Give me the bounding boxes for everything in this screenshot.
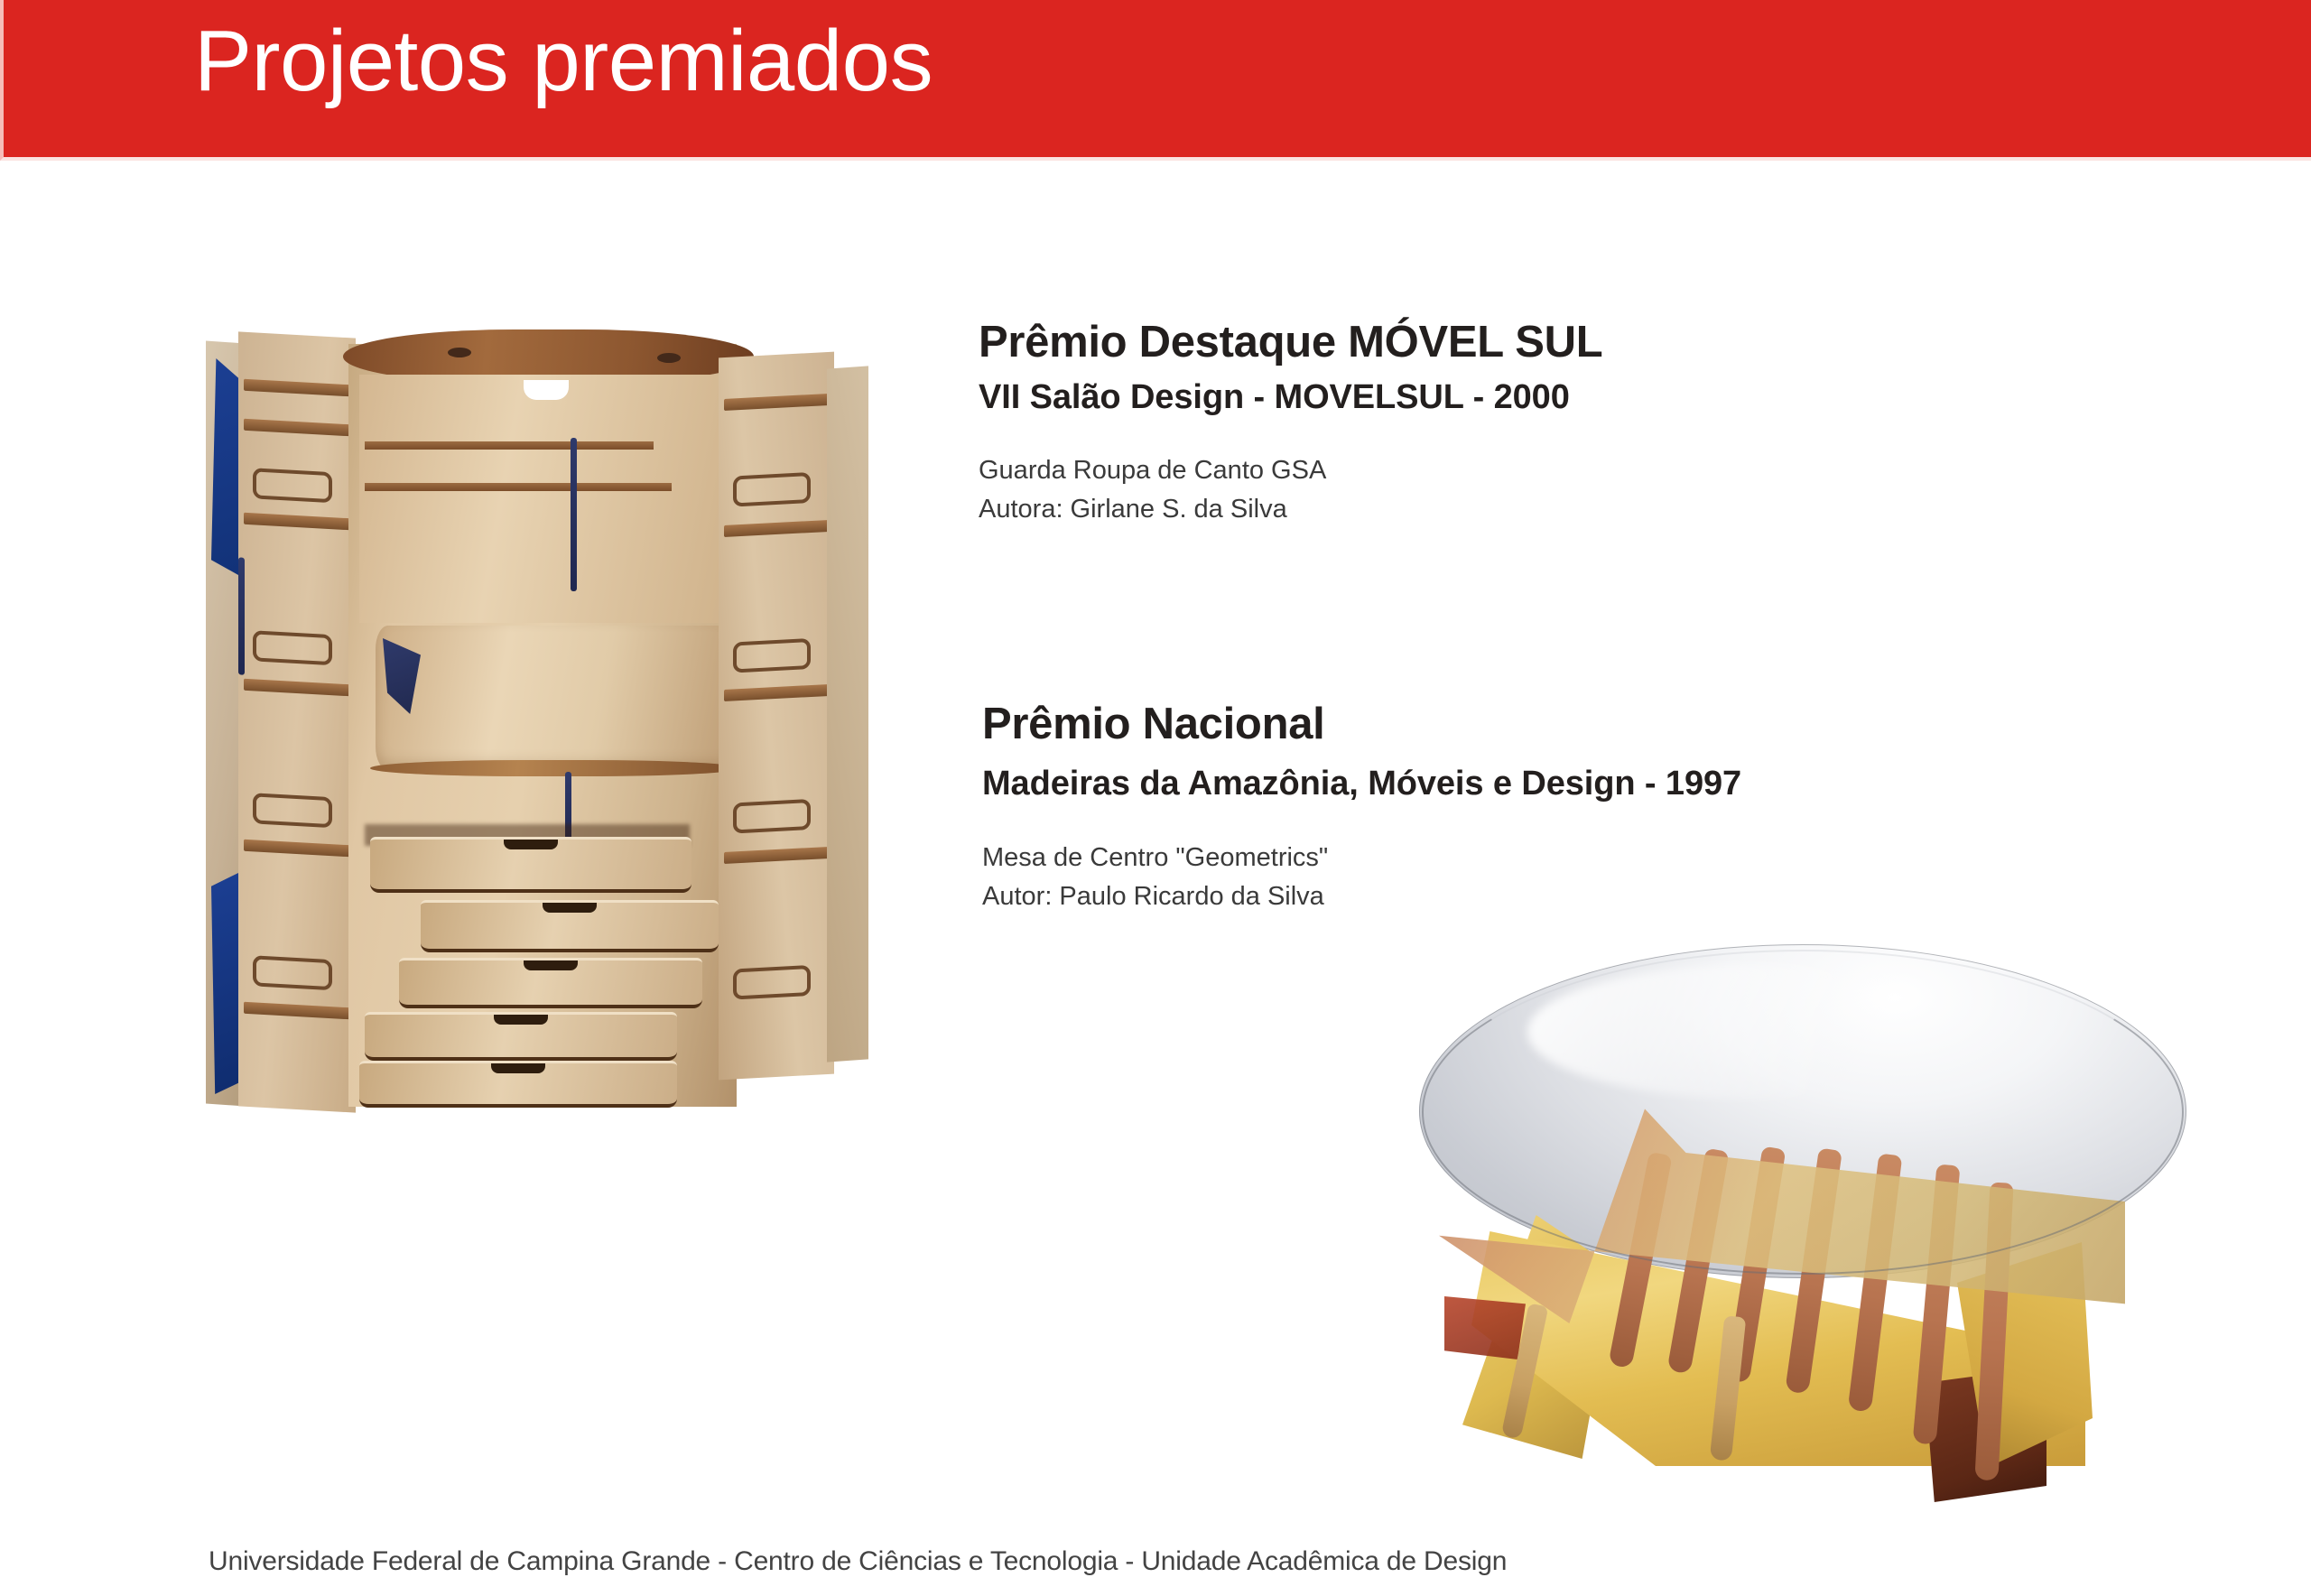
award-title: Prêmio Nacional	[982, 700, 1741, 749]
award-author: Autora: Girlane S. da Silva	[979, 490, 1602, 529]
award-subtitle: Madeiras da Amazônia, Móveis e Design - …	[982, 764, 1741, 805]
table-red-accent	[1444, 1296, 1526, 1359]
wardrobe-shelf	[724, 847, 829, 864]
wardrobe-drawer-notch	[491, 1063, 545, 1073]
wardrobe-handle	[733, 965, 811, 1000]
wardrobe-shelf	[724, 684, 829, 701]
wardrobe-drawer-notch	[524, 960, 578, 970]
wardrobe-curved-drawer	[365, 1012, 677, 1061]
award-project-name: Mesa de Centro "Geometrics"	[982, 839, 1741, 877]
wardrobe-drum-lip	[370, 760, 740, 776]
wardrobe-handle	[253, 793, 332, 828]
corner-wardrobe-photo	[206, 322, 881, 1148]
wardrobe-shelf	[244, 513, 350, 531]
wardrobe-upper-panel	[359, 375, 725, 623]
slide-footer: Universidade Federal de Campina Grande -…	[209, 1546, 1507, 1577]
wardrobe-curved-drawer	[359, 1061, 677, 1108]
wardrobe-right-outer-door	[827, 366, 868, 1062]
award-block-movelsul: Prêmio Destaque MÓVEL SUL VII Salão Desi…	[979, 318, 1602, 529]
award-subtitle: VII Salão Design - MOVELSUL - 2000	[979, 377, 1602, 419]
wardrobe-shelf	[244, 379, 350, 397]
wardrobe-handle	[733, 799, 811, 834]
wardrobe-shelf	[724, 394, 829, 411]
wardrobe-rotating-drum	[376, 626, 737, 770]
wardrobe-handle	[253, 630, 332, 665]
wardrobe-curved-drawer	[421, 900, 719, 952]
wardrobe-upper-notch	[524, 380, 569, 400]
wardrobe-shelf	[244, 419, 350, 437]
award-meta: Guarda Roupa de Canto GSA Autora: Girlan…	[979, 451, 1602, 528]
wardrobe-inner-shelf	[365, 441, 654, 450]
wardrobe-shelf	[244, 840, 350, 858]
wardrobe-left-inner-door	[238, 331, 356, 1112]
wardrobe-shelf	[244, 1002, 350, 1020]
wardrobe-top-hole	[448, 348, 471, 357]
award-meta: Mesa de Centro "Geometrics" Autor: Paulo…	[982, 839, 1741, 915]
wardrobe-blue-accent-bottom	[211, 873, 238, 1094]
slide-title-banner: Projetos premiados	[0, 0, 2311, 161]
wardrobe-rod	[238, 557, 245, 674]
wardrobe-inner-shelf	[365, 483, 672, 491]
wardrobe-curved-drawer	[399, 958, 702, 1008]
wardrobe-top-hole	[657, 353, 681, 363]
award-author: Autor: Paulo Ricardo da Silva	[982, 877, 1741, 916]
wardrobe-drawer-notch	[494, 1015, 548, 1025]
wardrobe-drawer-notch	[504, 840, 558, 849]
wardrobe-shelf	[244, 679, 350, 697]
wardrobe-divider-rod	[571, 438, 577, 591]
wardrobe-right-inner-door	[719, 352, 834, 1081]
wardrobe-handle	[733, 472, 811, 507]
glass-coffee-table-photo	[1419, 944, 2186, 1468]
page-title: Projetos premiados	[194, 12, 933, 111]
award-title: Prêmio Destaque MÓVEL SUL	[979, 318, 1602, 367]
award-block-nacional: Prêmio Nacional Madeiras da Amazônia, Mó…	[982, 700, 1741, 916]
wardrobe-curved-drawer	[370, 837, 691, 893]
wardrobe-handle	[733, 638, 811, 673]
wardrobe-shelf	[724, 520, 829, 537]
award-project-name: Guarda Roupa de Canto GSA	[979, 451, 1602, 490]
table-glass-rim	[1422, 950, 2184, 1275]
wardrobe-drawer-notch	[543, 903, 597, 913]
wardrobe-handle	[253, 468, 332, 503]
wardrobe-handle	[253, 955, 332, 990]
